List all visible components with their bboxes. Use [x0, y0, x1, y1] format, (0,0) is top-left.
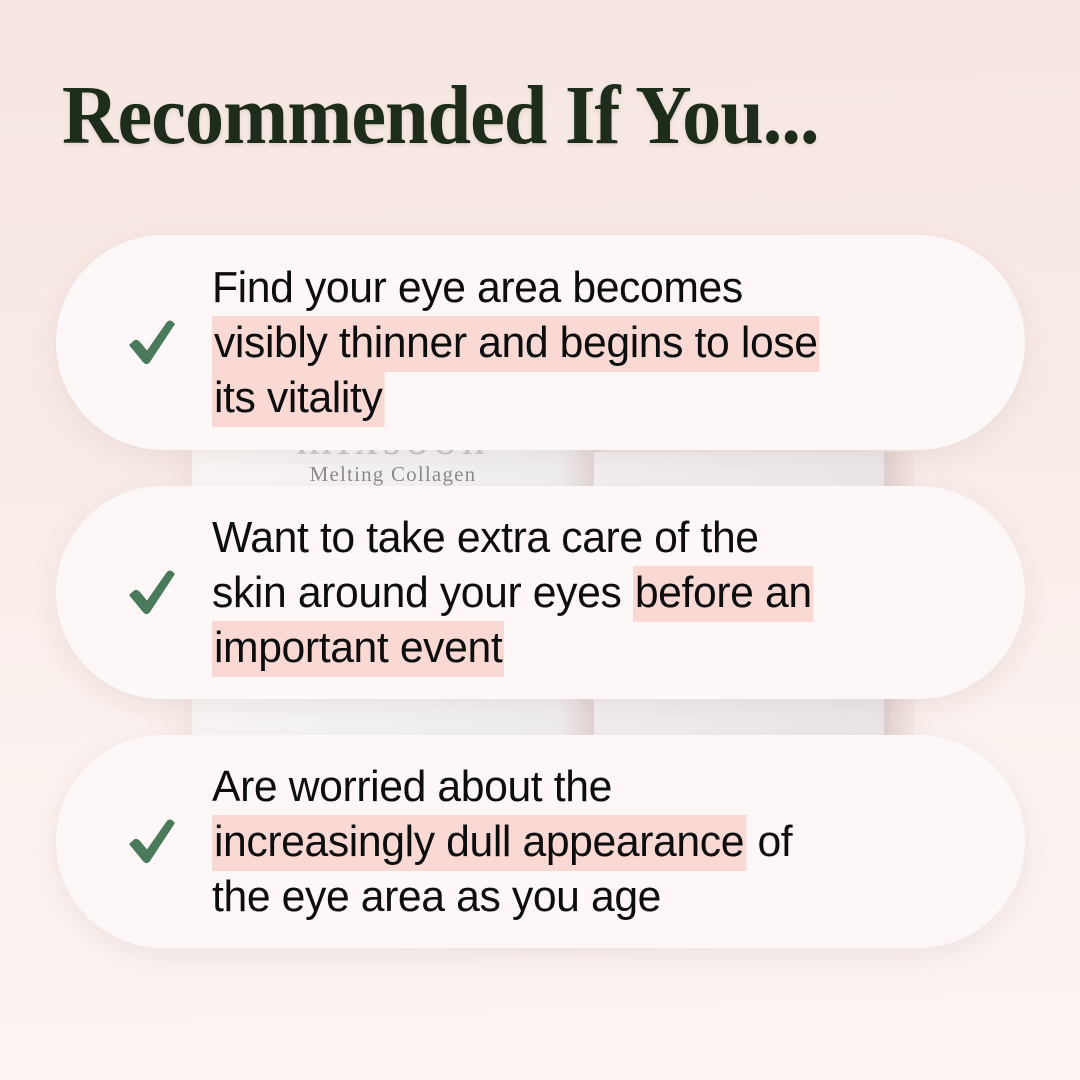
check-mark-icon: [92, 811, 212, 873]
benefit-card: Are worried about theincreasingly dull a…: [56, 735, 1025, 948]
watermark-product-name-left: Melting Collagen: [192, 462, 594, 487]
benefit-card: Find your eye area becomesvisibly thinne…: [56, 235, 1025, 450]
plain-phrase: Are worried about the: [212, 762, 612, 811]
benefit-card-line: its vitality: [212, 370, 952, 425]
highlighted-phrase: before an: [633, 566, 814, 622]
check-mark-icon: [92, 562, 212, 624]
plain-phrase: Want to take extra care of the: [212, 513, 759, 562]
highlighted-phrase: important event: [212, 621, 504, 677]
highlighted-phrase: increasingly dull appearance: [212, 815, 746, 871]
poster-canvas: mixsoon Melting Collagen Eye Film 집중 영양 …: [0, 0, 1080, 1080]
benefit-card-line: visibly thinner and begins to lose: [212, 315, 952, 370]
benefit-card-text: Are worried about theincreasingly dull a…: [212, 759, 1001, 924]
benefit-card-line: Want to take extra care of the: [212, 510, 952, 565]
benefit-card-line: the eye area as you age: [212, 869, 952, 924]
highlighted-phrase: its vitality: [212, 371, 384, 427]
plain-phrase: skin around your eyes: [212, 568, 633, 617]
benefit-card-text: Want to take extra care of theskin aroun…: [212, 510, 1001, 675]
benefit-card: Want to take extra care of theskin aroun…: [56, 486, 1025, 699]
benefit-card-text: Find your eye area becomesvisibly thinne…: [212, 260, 1001, 425]
plain-phrase: of: [746, 817, 792, 866]
plain-phrase: Find your eye area becomes: [212, 263, 743, 312]
check-mark-icon: [92, 312, 212, 374]
benefit-card-line: Find your eye area becomes: [212, 260, 952, 315]
benefit-card-line: increasingly dull appearance of: [212, 814, 952, 869]
page-title: Recommended If You...: [62, 74, 819, 158]
highlighted-phrase: visibly thinner and begins to lose: [212, 316, 820, 372]
benefit-card-line: skin around your eyes before an: [212, 565, 952, 620]
plain-phrase: the eye area as you age: [212, 872, 661, 921]
benefit-card-line: Are worried about the: [212, 759, 952, 814]
benefit-card-line: important event: [212, 620, 952, 675]
